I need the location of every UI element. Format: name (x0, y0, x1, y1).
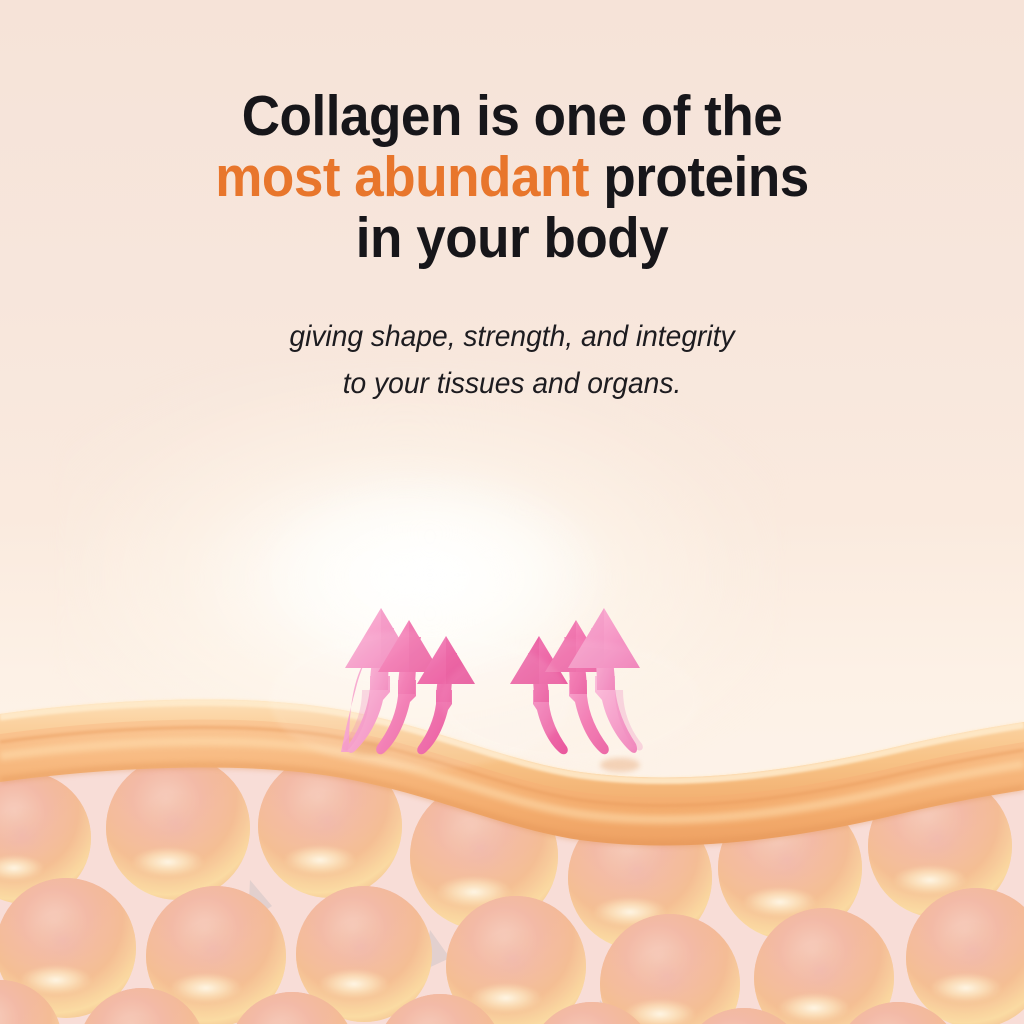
skin-cross-section-illustration (0, 0, 1024, 1024)
collagen-infographic-poster: Collagen is one of the most abundant pro… (0, 0, 1024, 1024)
